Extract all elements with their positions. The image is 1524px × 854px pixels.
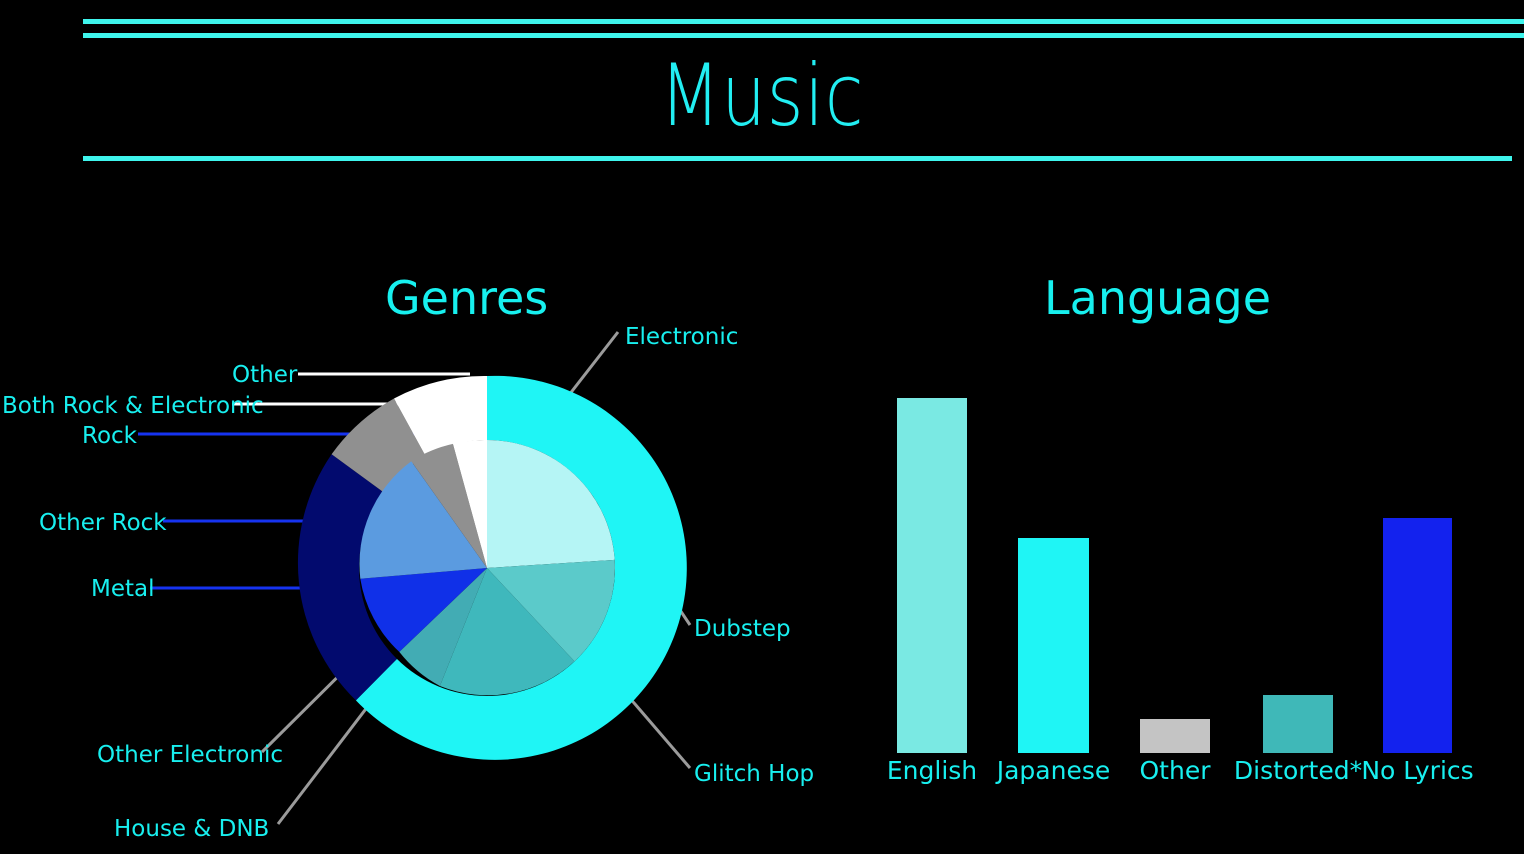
bar-label-no-lyrics: No Lyrics	[1361, 757, 1473, 785]
bar-no-lyrics	[1383, 518, 1452, 753]
header-rule-top-upper	[83, 19, 1524, 24]
inner-slice-metal	[360, 568, 487, 652]
header-rule-top-lower	[83, 33, 1524, 38]
pie-label-rock: Rock	[82, 423, 137, 449]
pie-label-other-electronic: Other Electronic	[97, 742, 283, 768]
leader-lines-electronic	[262, 332, 690, 824]
leader-line-electronic	[562, 332, 618, 404]
outer-slice-electronic	[356, 376, 687, 760]
outer-slice-other	[394, 376, 487, 568]
pie-label-metal: Metal	[91, 576, 155, 602]
inner-slice-house-dnb	[440, 568, 575, 695]
pie-label-other-rock: Other Rock	[39, 510, 167, 536]
leader-lines-rock	[138, 434, 424, 588]
bar-distorted	[1263, 695, 1333, 753]
bar-label-english: English	[887, 757, 977, 785]
bar-label-japanese: Japanese	[997, 757, 1111, 785]
pie-label-glitch-hop: Glitch Hop	[694, 761, 814, 787]
donut-outer-ring	[298, 376, 687, 760]
inner-slice-dubstep	[487, 440, 615, 568]
bar-label-other: Other	[1140, 757, 1211, 785]
genres-chart-title: Genres	[385, 272, 548, 324]
leader-line-other-electronic	[262, 625, 390, 752]
header-rule-bottom	[83, 156, 1512, 161]
outer-slice-rock	[298, 454, 487, 700]
page-title: Music	[137, 48, 1387, 144]
inner-slice-glitch-hop	[487, 560, 615, 662]
bar-other	[1140, 719, 1210, 753]
slide-canvas: Music Genres	[0, 0, 1524, 854]
donut-hole	[359, 440, 615, 696]
pie-label-electronic: Electronic	[625, 324, 738, 350]
bar-label-distorted: Distorted*	[1234, 757, 1362, 785]
inner-slice-both-rock-electronic	[411, 444, 487, 568]
inner-slice-other-rock	[359, 461, 487, 579]
pie-inner	[359, 440, 614, 695]
inner-slice-other	[453, 440, 487, 568]
language-chart-title: Language	[1044, 272, 1271, 324]
bar-japanese	[1018, 538, 1089, 753]
pie-label-dubstep: Dubstep	[694, 616, 791, 642]
inner-slice-other-electronic	[399, 568, 487, 686]
pie-label-other: Other	[232, 362, 297, 388]
pie-label-house-dnb: House & DNB	[114, 816, 269, 842]
language-bar-chart	[860, 380, 1480, 753]
leader-line-glitch-hop	[585, 646, 690, 768]
outer-slice-both-rock-electronic	[332, 399, 487, 569]
leader-line-house-dnb	[278, 638, 420, 824]
leader-line-dubstep	[604, 496, 690, 625]
bar-english	[897, 398, 967, 753]
pie-label-both-rock-electronic: Both Rock & Electronic	[2, 393, 264, 419]
